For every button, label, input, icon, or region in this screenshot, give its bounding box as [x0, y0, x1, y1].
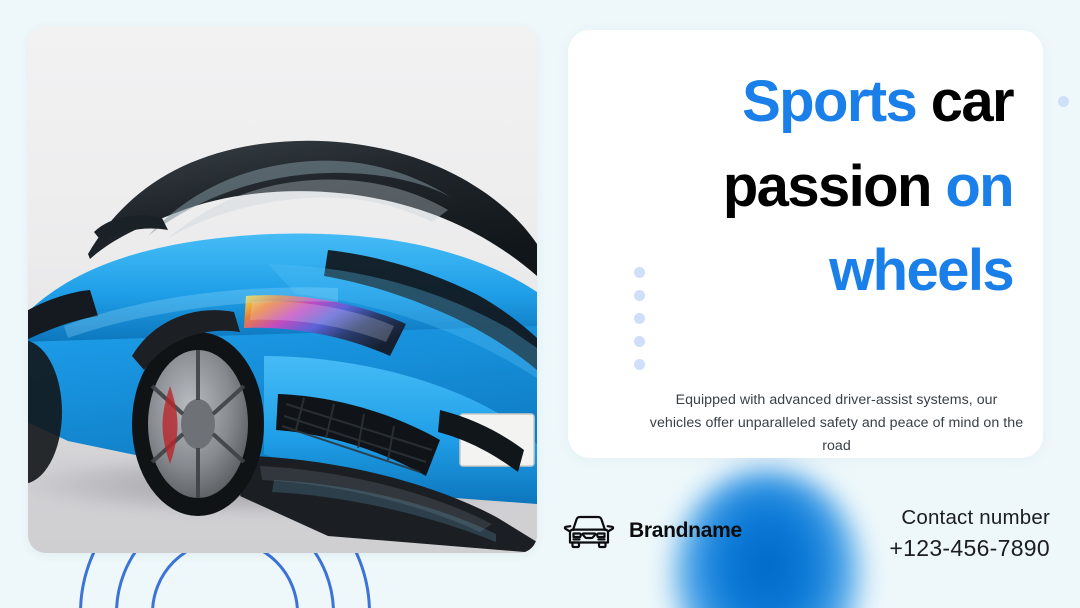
headline-accent-on: on	[945, 154, 1013, 219]
body-paragraph: Equipped with advanced driver-assist sys…	[648, 389, 1025, 458]
decor-dot-side	[1058, 96, 1069, 107]
headline-line-1: Sports car	[590, 60, 1013, 145]
headline-accent-wheels: wheels	[829, 238, 1013, 303]
decor-dot-2	[634, 290, 645, 301]
car-photo-card	[28, 26, 537, 553]
headline: Sports car passion on wheels	[590, 60, 1013, 314]
contact-number[interactable]: +123-456-7890	[889, 532, 1050, 564]
decor-dot-1	[634, 267, 645, 278]
headline-accent-sports: Sports	[742, 69, 916, 134]
decor-dot-3	[634, 313, 645, 324]
poster-canvas: Sports car passion on wheels Equipped wi…	[0, 0, 1080, 608]
brand-name: Brandname	[629, 519, 742, 543]
headline-plain-passion: passion	[723, 154, 931, 219]
contact-block[interactable]: Contact number +123-456-7890	[889, 505, 1050, 564]
headline-card: Sports car passion on wheels Equipped wi…	[568, 30, 1043, 458]
contact-label: Contact number	[889, 505, 1050, 532]
headline-line-3: wheels	[590, 229, 1013, 314]
dot-column-decoration	[634, 267, 645, 370]
decor-dot-4	[634, 336, 645, 347]
car-front-icon	[562, 512, 616, 550]
decor-dot-5	[634, 359, 645, 370]
headline-plain-car: car	[931, 69, 1013, 134]
headline-line-2: passion on	[590, 145, 1013, 230]
brand-lockup[interactable]: Brandname	[562, 512, 742, 550]
sports-car-image	[28, 26, 537, 553]
